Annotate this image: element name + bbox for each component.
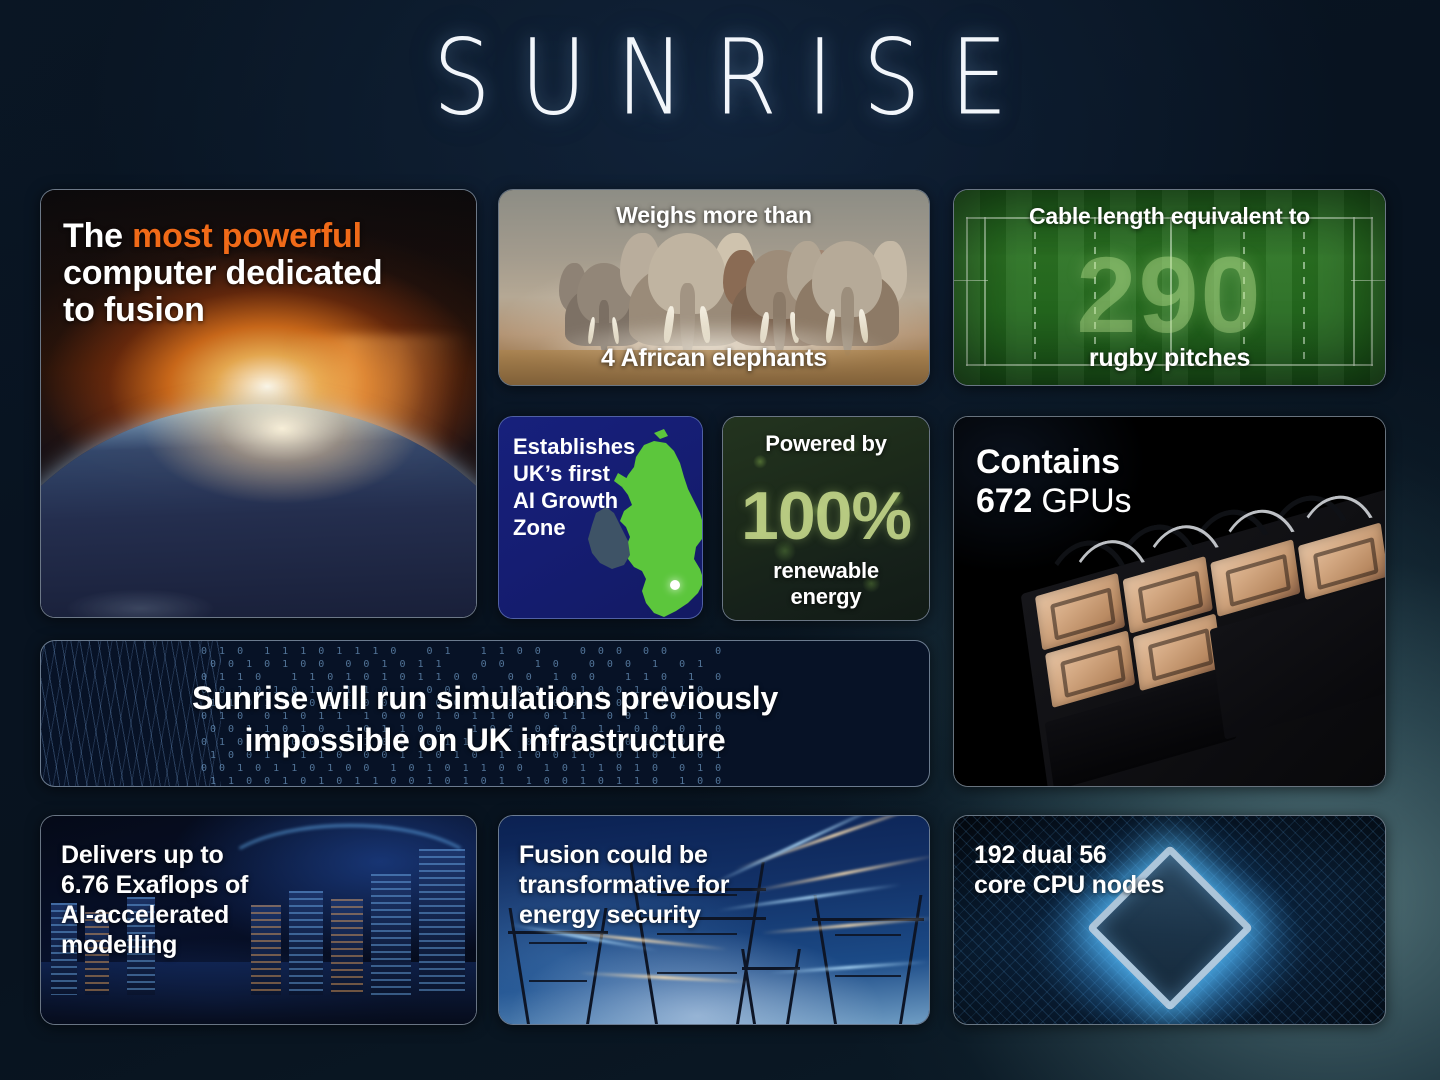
pylon-lattice — [835, 975, 901, 977]
electricity-pylon — [829, 895, 907, 1024]
elephants-top-text: Weighs more than — [499, 202, 929, 229]
pylon-lattice — [529, 942, 588, 944]
ai-growth-zone-text: Establishes UK’s first AI Growth Zone — [513, 433, 653, 541]
pylon-lattice — [529, 980, 588, 982]
card-uk-ai-growth-zone[interactable]: Establishes UK’s first AI Growth Zone — [498, 416, 703, 619]
energy-line-3: energy security — [519, 900, 819, 930]
exaflops-text: Delivers up to 6.76 Exaflops of AI-accel… — [61, 840, 361, 960]
exaflops-line-4: modelling — [61, 930, 361, 960]
pylon-lattice — [835, 934, 901, 936]
banner-line-1: Sunrise will run simulations previously — [41, 677, 929, 719]
renewable-bottom-text: renewable energy — [723, 558, 929, 610]
agz-line-1: Establishes — [513, 433, 653, 460]
title-region: SUNRISE — [0, 30, 1440, 128]
gpu-line-2: 672 GPUs — [976, 482, 1296, 521]
exaflops-line-1: Delivers up to — [61, 840, 361, 870]
renewable-bottom-line-1: renewable — [723, 558, 929, 584]
card-exaflops-ai-modelling[interactable]: Delivers up to 6.76 Exaflops of AI-accel… — [40, 815, 477, 1025]
agz-line-2: UK’s first — [513, 460, 653, 487]
gpu-suffix: GPUs — [1032, 482, 1131, 520]
card-fusion-energy-security[interactable]: Fusion could be transformative for energ… — [498, 815, 930, 1025]
card-most-powerful-text: The most powerful computer dedicated to … — [63, 218, 455, 329]
exaflops-line-2: 6.76 Exaflops of — [61, 870, 361, 900]
cpu-nodes-text: 192 dual 56 core CPU nodes — [974, 840, 1234, 900]
headline-line-2: computer dedicated — [63, 255, 455, 292]
energy-security-text: Fusion could be transformative for energ… — [519, 840, 819, 930]
agz-line-4: Zone — [513, 514, 653, 541]
exaflops-line-3: AI-accelerated — [61, 900, 361, 930]
headline-line-1: The most powerful — [63, 218, 455, 255]
elephants-bottom-text: 4 African elephants — [499, 344, 929, 373]
infographic-root: SUNRISE The most powerful computer dedic… — [0, 0, 1440, 1080]
banner-line-2: impossible on UK infrastructure — [41, 719, 929, 761]
cpu-line-1: 192 dual 56 — [974, 840, 1234, 870]
banner-text: Sunrise will run simulations previously … — [41, 677, 929, 761]
card-contains-gpus[interactable]: Contains 672 GPUs — [953, 416, 1386, 787]
gpu-card-text: Contains 672 GPUs — [976, 443, 1296, 521]
cpu-line-2: core CPU nodes — [974, 870, 1234, 900]
renewable-bottom-line-2: energy — [723, 584, 929, 610]
electricity-pylon — [751, 949, 791, 1024]
location-dot-icon — [670, 580, 680, 590]
energy-line-2: transformative for — [519, 870, 819, 900]
renewable-top-text: Powered by — [723, 431, 929, 457]
agz-line-3: AI Growth — [513, 487, 653, 514]
card-powered-by-renewable-energy[interactable]: 100% Powered by renewable energy — [722, 416, 930, 621]
headline-prefix: The — [63, 217, 132, 255]
renewable-percentage: 100% — [722, 482, 930, 550]
card-weighs-more-than-elephants[interactable]: Weighs more than 4 African elephants — [498, 189, 930, 386]
card-cpu-nodes[interactable]: 192 dual 56 core CPU nodes — [953, 815, 1386, 1025]
headline-accent: most powerful — [132, 217, 362, 255]
rugby-bottom-text: rugby pitches — [954, 344, 1385, 373]
pylon-lattice — [657, 972, 738, 974]
earth-landmass-texture — [40, 404, 477, 619]
card-simulations-banner[interactable]: 0 1 0 1 1 1 0 1 1 1 0 0 1 1 1 0 0 0 0 0 … — [40, 640, 930, 787]
pylon-lattice — [657, 933, 738, 935]
card-cable-length-rugby-pitches[interactable]: 290 Cable length equivalent to rugby pit… — [953, 189, 1386, 386]
headline-line-3: to fusion — [63, 292, 455, 329]
gpu-line-1: Contains — [976, 443, 1296, 482]
earth-horizon-image — [40, 404, 477, 619]
gpu-count: 672 — [976, 482, 1032, 520]
card-most-powerful-computer[interactable]: The most powerful computer dedicated to … — [40, 189, 477, 618]
energy-line-1: Fusion could be — [519, 840, 819, 870]
rugby-top-text: Cable length equivalent to — [954, 203, 1385, 230]
page-title: SUNRISE — [403, 24, 1037, 133]
